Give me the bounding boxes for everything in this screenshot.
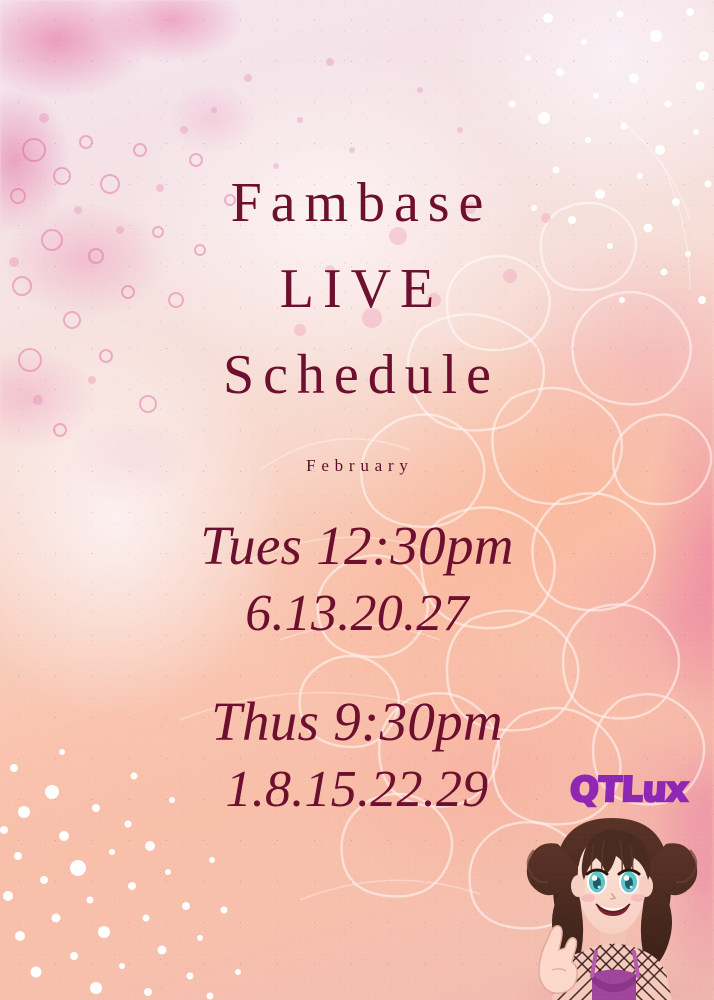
title-line-1: Fambase bbox=[0, 160, 714, 246]
poster-canvas: Fambase LIVE Schedule February Tues 12:3… bbox=[0, 0, 714, 1000]
schedule-dates: 6.13.20.27 bbox=[0, 580, 714, 648]
title-line-3: Schedule bbox=[0, 332, 714, 418]
schedule-daytime: Thus 9:30pm bbox=[0, 688, 714, 756]
schedule-daytime: Tues 12:30pm bbox=[0, 512, 714, 580]
schedule-block-tuesday: Tues 12:30pm 6.13.20.27 bbox=[0, 512, 714, 648]
anime-girl-peace-sign-icon bbox=[508, 810, 714, 1000]
month-label: February bbox=[0, 456, 714, 476]
qtlux-logo: QTLux bbox=[569, 773, 689, 807]
poster-content: Fambase LIVE Schedule February Tues 12:3… bbox=[0, 0, 714, 1000]
title-line-2: LIVE bbox=[0, 246, 714, 332]
page-title: Fambase LIVE Schedule bbox=[0, 160, 714, 418]
